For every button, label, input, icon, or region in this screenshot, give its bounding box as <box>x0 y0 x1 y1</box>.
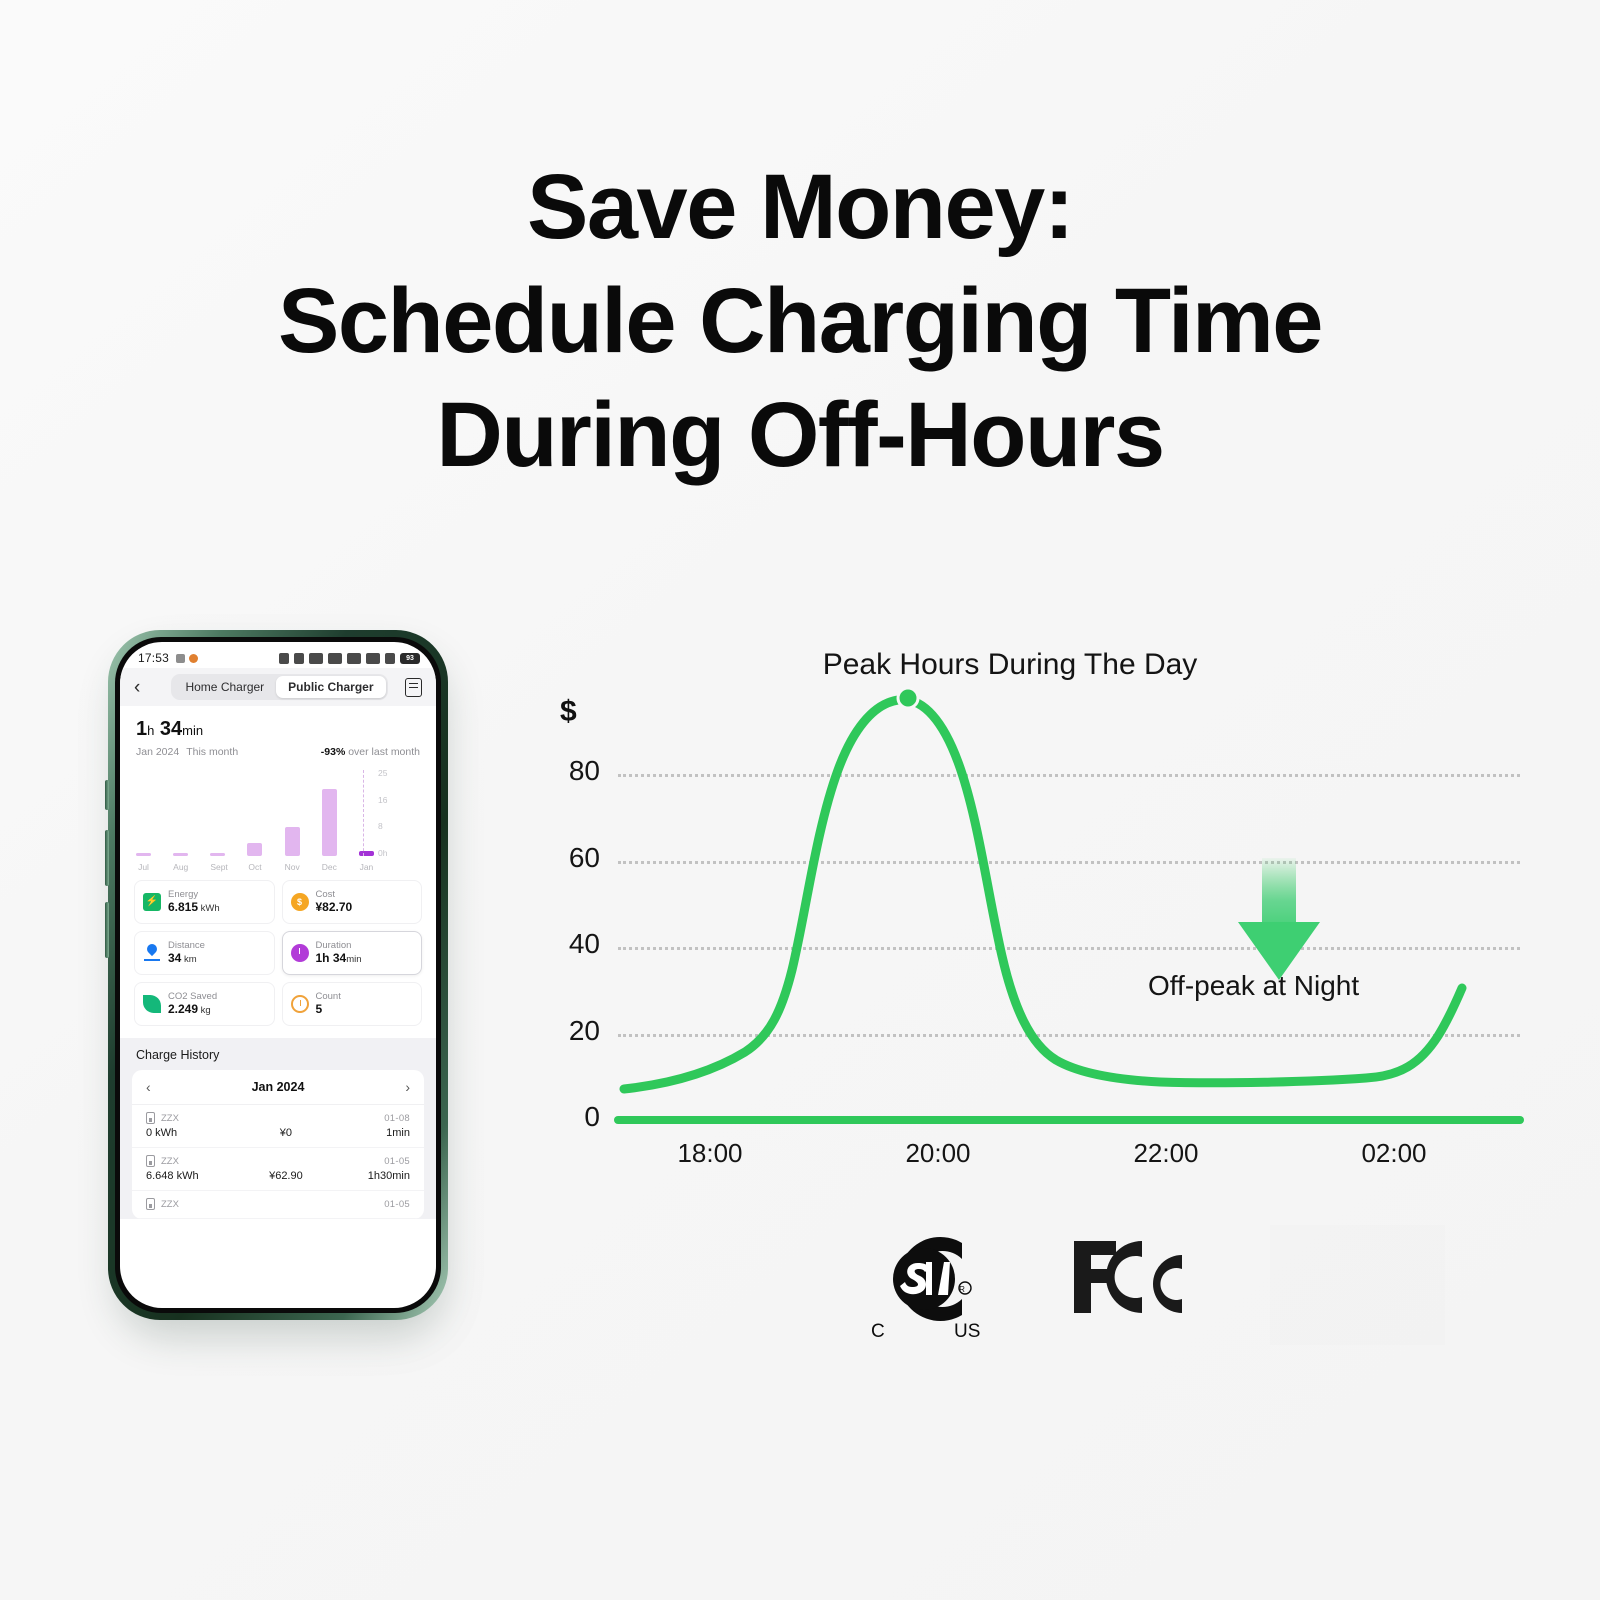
stats-grid: Energy6.815 kWh$Cost¥82.70Distance34 kmD… <box>120 872 436 1038</box>
stat-value-unit: kg <box>198 1005 211 1016</box>
battery-icon <box>143 893 161 911</box>
data-icon <box>309 653 323 664</box>
stat-label: Cost <box>316 889 353 901</box>
battery-icon: 93 <box>400 653 420 664</box>
bar-jan[interactable] <box>359 851 374 856</box>
history-date: 01-05 <box>384 1156 410 1167</box>
off-peak-down-arrow-icon <box>1238 858 1320 980</box>
phone-mockup: 17:53 93 <box>108 630 448 1320</box>
stat-value: 1h 34min <box>316 951 362 966</box>
phone-volume-up-button[interactable] <box>105 830 109 886</box>
history-row-values: 6.648 kWh¥62.901h30min <box>146 1170 410 1182</box>
bar-dec[interactable] <box>322 789 337 856</box>
bar-jul[interactable] <box>136 853 151 856</box>
summary-month: Jan 2024 <box>136 746 179 758</box>
chart-x-tick-2200: 22:00 <box>1096 1138 1236 1169</box>
off-peak-annotation: Off-peak at Night <box>1148 970 1359 1002</box>
charger-plug-icon <box>146 1112 155 1124</box>
current-month-dashline <box>363 770 364 856</box>
bar-chart-tick: 0h <box>378 848 412 858</box>
charger-plug-icon <box>146 1198 155 1210</box>
phone-bezel: 17:53 93 <box>115 637 441 1313</box>
chart-x-tick-0200: 02:00 <box>1324 1138 1464 1169</box>
stat-value: 34 km <box>168 951 205 966</box>
coin-icon: $ <box>291 893 309 911</box>
stat-value-number: 1h 34 <box>316 951 347 965</box>
history-row[interactable]: ZZX01-080 kWh¥01min <box>132 1105 424 1148</box>
history-date: 01-08 <box>384 1113 410 1124</box>
duration-minutes-unit: min <box>182 723 203 738</box>
phone-volume-down-button[interactable] <box>105 902 109 958</box>
history-duration: 1min <box>326 1127 410 1139</box>
blank-logo-placeholder <box>1270 1225 1445 1345</box>
phone-body: 17:53 93 <box>108 630 448 1320</box>
stat-value-number: 2.249 <box>168 1002 198 1016</box>
duration-hours-unit: h <box>147 723 154 738</box>
stat-value-unit: kWh <box>198 903 220 914</box>
stat-value-unit: km <box>181 954 196 965</box>
location-icon <box>143 944 161 962</box>
stat-value-number: ¥82.70 <box>316 900 353 914</box>
page-title: Save Money: Schedule Charging Time Durin… <box>0 150 1600 492</box>
bar-aug[interactable] <box>173 853 188 856</box>
hd-icon <box>328 653 342 664</box>
stat-text: CO2 Saved2.249 kg <box>168 991 217 1018</box>
tab-home-charger[interactable]: Home Charger <box>173 676 276 698</box>
stat-text: Distance34 km <box>168 940 205 967</box>
stat-label: Duration <box>316 940 362 952</box>
chart-peak-marker <box>898 688 918 708</box>
bar-chart-tick: 8 <box>378 821 412 831</box>
charge-history-section: Charge History ‹ Jan 2024 › ZZX01-080 kW… <box>120 1038 436 1219</box>
alarm-icon <box>279 653 289 664</box>
fcc-logo <box>1070 1237 1200 1317</box>
duration-hours: 1 <box>136 718 147 740</box>
history-energy: 6.648 kWh <box>146 1170 246 1182</box>
duration-minutes: 34 <box>160 718 182 740</box>
next-month-icon[interactable]: › <box>405 1079 410 1095</box>
back-icon[interactable]: ‹ <box>134 678 154 697</box>
stat-value-number: 5 <box>316 1002 323 1016</box>
history-station-name: ZZX <box>161 1199 179 1210</box>
history-rows: ZZX01-080 kWh¥01minZZX01-056.648 kWh¥62.… <box>132 1105 424 1219</box>
bar-nov[interactable] <box>285 827 300 856</box>
charger-tab-group: Home Charger Public Charger <box>171 674 387 700</box>
stat-value-unit: min <box>346 954 361 965</box>
bar-chart-labels: JulAugSeptOctNovDecJan <box>136 862 374 872</box>
stat-value: ¥82.70 <box>316 900 353 915</box>
bar-sept[interactable] <box>210 853 225 856</box>
wifi-icon <box>385 653 395 664</box>
csa-logo: R C US <box>862 1225 992 1343</box>
history-date: 01-05 <box>384 1199 410 1210</box>
signal-icon-2 <box>366 653 380 664</box>
bar-label-sept: Sept <box>210 862 225 872</box>
history-row-header: ZZX01-05 <box>146 1155 410 1167</box>
stat-value-number: 6.815 <box>168 900 198 914</box>
phone-mute-switch[interactable] <box>105 780 109 810</box>
headline-line-1: Save Money: <box>0 150 1600 264</box>
status-time: 17:53 <box>138 651 169 665</box>
stat-card-count[interactable]: Count5 <box>282 982 423 1026</box>
bar-label-jan: Jan <box>359 862 374 872</box>
certification-logos: R C US <box>840 1225 1460 1345</box>
counter-icon <box>291 995 309 1013</box>
stat-label: Distance <box>168 940 205 952</box>
history-row-header: ZZX01-05 <box>146 1198 410 1210</box>
bar-chart-ticks: 251680h <box>378 768 412 858</box>
history-energy: 0 kWh <box>146 1127 246 1139</box>
headline-line-3: During Off-Hours <box>0 378 1600 492</box>
bar-label-aug: Aug <box>173 862 188 872</box>
history-month-label: Jan 2024 <box>252 1080 305 1094</box>
signal-icon <box>347 653 361 664</box>
history-cost: ¥62.90 <box>246 1170 325 1182</box>
summary-change-value: -93% <box>321 746 346 758</box>
stat-label: Energy <box>168 889 220 901</box>
poster-canvas: Save Money: Schedule Charging Time Durin… <box>0 0 1600 1600</box>
stat-value-number: 34 <box>168 951 181 965</box>
bar-label-jul: Jul <box>136 862 151 872</box>
csa-suffix: US <box>954 1321 980 1342</box>
receipt-icon[interactable] <box>405 678 422 697</box>
bar-label-nov: Nov <box>285 862 300 872</box>
total-duration: 1h 34min <box>136 718 420 741</box>
bar-label-oct: Oct <box>247 862 262 872</box>
csa-logo-mark: R C US <box>862 1225 992 1343</box>
summary-section: 1h 34min Jan 2024 This month -93% over l… <box>120 706 436 758</box>
history-row-header: ZZX01-08 <box>146 1112 410 1124</box>
stat-label: CO2 Saved <box>168 991 217 1003</box>
stat-card-distance[interactable]: Distance34 km <box>134 931 275 975</box>
status-right-icons: 93 <box>279 653 420 664</box>
stat-text: Count5 <box>316 991 341 1018</box>
bar-oct[interactable] <box>247 843 262 856</box>
phone-screen: 17:53 93 <box>120 642 436 1308</box>
bar-chart-tick: 16 <box>378 795 412 805</box>
clock-icon <box>291 944 309 962</box>
bar-chart-tick: 25 <box>378 768 412 778</box>
stat-value: 2.249 kg <box>168 1002 217 1017</box>
chart-x-tick-1800: 18:00 <box>640 1138 780 1169</box>
price-curve-chart: Peak Hours During The Day $ 806040200 <box>520 640 1520 1200</box>
history-duration: 1h30min <box>326 1170 410 1182</box>
stat-card-energy[interactable]: Energy6.815 kWh <box>134 880 275 924</box>
chat-icon <box>176 654 185 663</box>
history-month-nav: ‹ Jan 2024 › <box>132 1070 424 1105</box>
chart-price-line <box>624 700 1462 1089</box>
stat-text: Cost¥82.70 <box>316 889 353 916</box>
stat-text: Duration1h 34min <box>316 940 362 967</box>
history-station-name: ZZX <box>161 1156 179 1167</box>
status-left-icons <box>176 654 198 663</box>
headline-line-2: Schedule Charging Time <box>0 264 1600 378</box>
fcc-logo-mark <box>1070 1237 1200 1317</box>
app-icon <box>189 654 198 663</box>
status-bar: 17:53 93 <box>120 642 436 668</box>
tab-public-charger[interactable]: Public Charger <box>276 676 385 698</box>
stat-value: 6.815 kWh <box>168 900 220 915</box>
stat-card-co2-saved[interactable]: CO2 Saved2.249 kg <box>134 982 275 1026</box>
summary-change-suffix: over last month <box>345 746 420 758</box>
history-cost: ¥0 <box>246 1127 325 1139</box>
chart-svg <box>520 640 1520 1200</box>
history-row-values: 0 kWh¥01min <box>146 1127 410 1139</box>
app-navbar: ‹ Home Charger Public Charger <box>120 668 436 706</box>
charger-plug-icon <box>146 1155 155 1167</box>
chart-x-tick-2000: 20:00 <box>868 1138 1008 1169</box>
summary-period: This month <box>186 746 238 758</box>
history-row[interactable]: ZZX01-056.648 kWh¥62.901h30min <box>132 1148 424 1191</box>
stat-label: Count <box>316 991 341 1003</box>
bar-chart-bars <box>136 772 374 856</box>
mute-icon <box>294 653 304 664</box>
stat-card-cost[interactable]: $Cost¥82.70 <box>282 880 423 924</box>
stat-card-duration[interactable]: Duration1h 34min <box>282 931 423 975</box>
leaf-icon <box>143 995 161 1013</box>
bar-label-dec: Dec <box>322 862 337 872</box>
monthly-bar-chart: JulAugSeptOctNovDecJan 251680h <box>136 764 420 872</box>
summary-change: -93% over last month <box>321 746 420 758</box>
stat-text: Energy6.815 kWh <box>168 889 220 916</box>
history-row[interactable]: ZZX01-05 <box>132 1191 424 1219</box>
summary-subrow: Jan 2024 This month -93% over last month <box>136 746 420 758</box>
history-station-name: ZZX <box>161 1113 179 1124</box>
stat-value: 5 <box>316 1002 341 1017</box>
prev-month-icon[interactable]: ‹ <box>146 1079 151 1095</box>
charge-history-card: ‹ Jan 2024 › ZZX01-080 kWh¥01minZZX01-05… <box>132 1070 424 1219</box>
svg-text:R: R <box>959 1285 965 1294</box>
csa-prefix: C <box>871 1321 885 1342</box>
charge-history-title: Charge History <box>120 1048 436 1070</box>
